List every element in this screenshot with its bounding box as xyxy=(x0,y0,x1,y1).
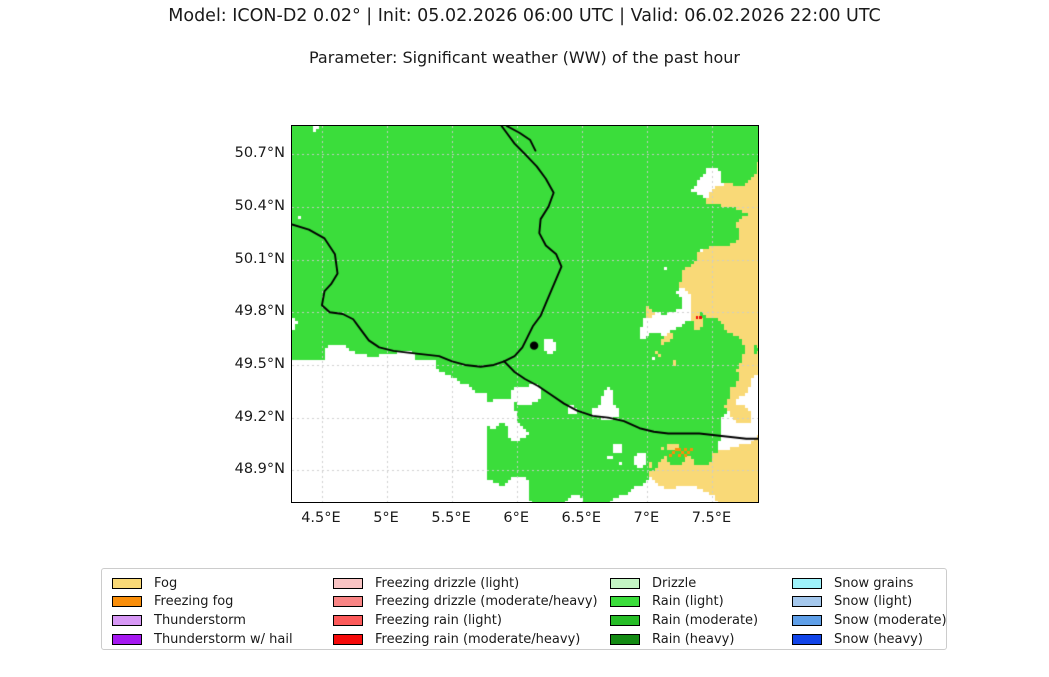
legend-entry[interactable]: Freezing drizzle (light) xyxy=(333,574,598,593)
longitude-tick-label: 4.5°E xyxy=(301,510,340,526)
legend-column: FogFreezing fogThunderstormThunderstorm … xyxy=(112,574,293,648)
longitude-tick-label: 7°E xyxy=(634,510,660,526)
legend-color-swatch xyxy=(792,615,822,626)
legend-color-swatch xyxy=(333,578,363,589)
legend-entry[interactable]: Thunderstorm w/ hail xyxy=(112,630,293,649)
latitude-tick-label: 49.5°N xyxy=(211,356,285,372)
weather-legend: FogFreezing fogThunderstormThunderstorm … xyxy=(101,568,947,650)
legend-entry-label: Freezing fog xyxy=(154,595,233,608)
legend-entry[interactable]: Freezing drizzle (moderate/heavy) xyxy=(333,593,598,612)
legend-color-swatch xyxy=(333,596,363,607)
legend-entry[interactable]: Rain (heavy) xyxy=(610,630,758,649)
legend-entry[interactable]: Thunderstorm xyxy=(112,611,293,630)
weather-map-plot[interactable] xyxy=(291,125,759,503)
legend-color-swatch xyxy=(112,634,142,645)
legend-column: Snow grainsSnow (light)Snow (moderate)Sn… xyxy=(792,574,947,648)
legend-entry-label: Snow (moderate) xyxy=(834,614,947,627)
legend-color-swatch xyxy=(333,634,363,645)
legend-entry-label: Snow (light) xyxy=(834,595,912,608)
legend-entry[interactable]: Snow (heavy) xyxy=(792,630,947,649)
legend-entry-label: Fog xyxy=(154,577,177,590)
latitude-tick-label: 49.8°N xyxy=(211,303,285,319)
legend-entry[interactable]: Fog xyxy=(112,574,293,593)
legend-entry[interactable]: Drizzle xyxy=(610,574,758,593)
legend-entry[interactable]: Freezing fog xyxy=(112,593,293,612)
longitude-tick-label: 6.5°E xyxy=(562,510,601,526)
legend-entry-label: Rain (heavy) xyxy=(652,633,734,646)
legend-color-swatch xyxy=(112,615,142,626)
legend-entry-label: Freezing drizzle (moderate/heavy) xyxy=(375,595,598,608)
legend-entry-label: Snow grains xyxy=(834,577,913,590)
legend-color-swatch xyxy=(610,634,640,645)
legend-column: DrizzleRain (light)Rain (moderate)Rain (… xyxy=(610,574,758,648)
legend-entry-label: Freezing rain (moderate/heavy) xyxy=(375,633,580,646)
longitude-axis: 4.5°E5°E5.5°E6°E6.5°E7°E7.5°E xyxy=(291,510,759,532)
legend-entry[interactable]: Freezing rain (moderate/heavy) xyxy=(333,630,598,649)
legend-entry[interactable]: Snow grains xyxy=(792,574,947,593)
legend-entry[interactable]: Snow (light) xyxy=(792,593,947,612)
legend-entry[interactable]: Rain (moderate) xyxy=(610,611,758,630)
legend-entry-label: Rain (moderate) xyxy=(652,614,758,627)
legend-entry-label: Freezing rain (light) xyxy=(375,614,502,627)
legend-entry-label: Rain (light) xyxy=(652,595,724,608)
latitude-axis: 48.9°N49.2°N49.5°N49.8°N50.1°N50.4°N50.7… xyxy=(211,125,285,503)
legend-color-swatch xyxy=(610,615,640,626)
page-title: Model: ICON-D2 0.02° | Init: 05.02.2026 … xyxy=(0,6,1049,26)
legend-color-swatch xyxy=(112,578,142,589)
legend-color-swatch xyxy=(112,596,142,607)
longitude-tick-label: 7.5°E xyxy=(692,510,731,526)
legend-color-swatch xyxy=(792,596,822,607)
legend-entry-label: Thunderstorm xyxy=(154,614,246,627)
latitude-tick-label: 48.9°N xyxy=(211,461,285,477)
latitude-tick-label: 50.1°N xyxy=(211,251,285,267)
latitude-tick-label: 50.7°N xyxy=(211,145,285,161)
page-subtitle: Parameter: Significant weather (WW) of t… xyxy=(0,48,1049,67)
legend-entry[interactable]: Freezing rain (light) xyxy=(333,611,598,630)
legend-color-swatch xyxy=(610,596,640,607)
legend-color-swatch xyxy=(333,615,363,626)
legend-entry-label: Freezing drizzle (light) xyxy=(375,577,519,590)
longitude-tick-label: 5.5°E xyxy=(431,510,470,526)
legend-color-swatch xyxy=(610,578,640,589)
weather-map-canvas[interactable] xyxy=(292,126,758,502)
legend-entry-label: Snow (heavy) xyxy=(834,633,923,646)
legend-column: Freezing drizzle (light)Freezing drizzle… xyxy=(333,574,598,648)
longitude-tick-label: 5°E xyxy=(373,510,399,526)
legend-entry[interactable]: Snow (moderate) xyxy=(792,611,947,630)
legend-color-swatch xyxy=(792,634,822,645)
longitude-tick-label: 6°E xyxy=(503,510,529,526)
legend-entry-label: Thunderstorm w/ hail xyxy=(154,633,293,646)
latitude-tick-label: 49.2°N xyxy=(211,409,285,425)
legend-entry-label: Drizzle xyxy=(652,577,696,590)
legend-entry[interactable]: Rain (light) xyxy=(610,593,758,612)
legend-color-swatch xyxy=(792,578,822,589)
latitude-tick-label: 50.4°N xyxy=(211,198,285,214)
